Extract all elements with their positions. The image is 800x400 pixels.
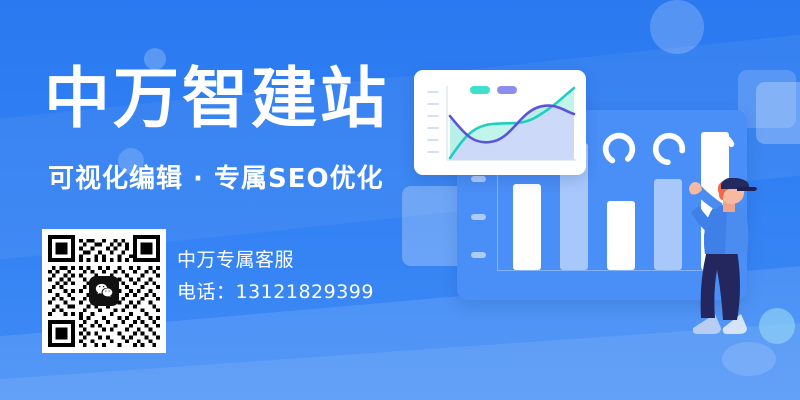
headline-column: 中万智建站 可视化编辑 · 专属SEO优化 [42, 0, 412, 400]
person-legs [701, 250, 740, 320]
decor-circle-teal [759, 308, 795, 344]
page-subtitle: 可视化编辑 · 专属SEO优化 [48, 162, 384, 196]
progress-ring-1 [600, 130, 638, 168]
contact-block: 中万专属客服 电话：13121829399 [177, 244, 374, 308]
line-chart-legend [470, 86, 517, 94]
phone-label: 电话：13121829399 [177, 276, 374, 308]
wechat-qr-code[interactable] [42, 229, 166, 353]
person-cap-brim [737, 187, 757, 191]
legend-teal [470, 86, 490, 94]
line-chart-card [414, 70, 586, 175]
progress-ring-3 [700, 130, 738, 168]
bar-axis-tick [471, 252, 486, 258]
service-label: 中万专属客服 [177, 244, 374, 276]
bar-item [607, 201, 635, 270]
person-shirt-shade [704, 205, 727, 254]
qr-code-matrix [48, 235, 160, 347]
wechat-logo [89, 276, 119, 306]
progress-rings-group [600, 130, 738, 168]
promo-banner: 中万智建站 可视化编辑 · 专属SEO优化 [0, 0, 800, 400]
illustration-group [385, 0, 800, 400]
bar-axis-tick [471, 176, 486, 182]
page-title: 中万智建站 [44, 62, 389, 136]
progress-ring-2 [650, 130, 688, 168]
wechat-glyph-icon [94, 281, 114, 301]
bar-item [513, 184, 541, 270]
legend-purple [497, 86, 517, 94]
line-chart-y-ticks [428, 92, 438, 152]
bar-axis-tick [471, 214, 486, 220]
